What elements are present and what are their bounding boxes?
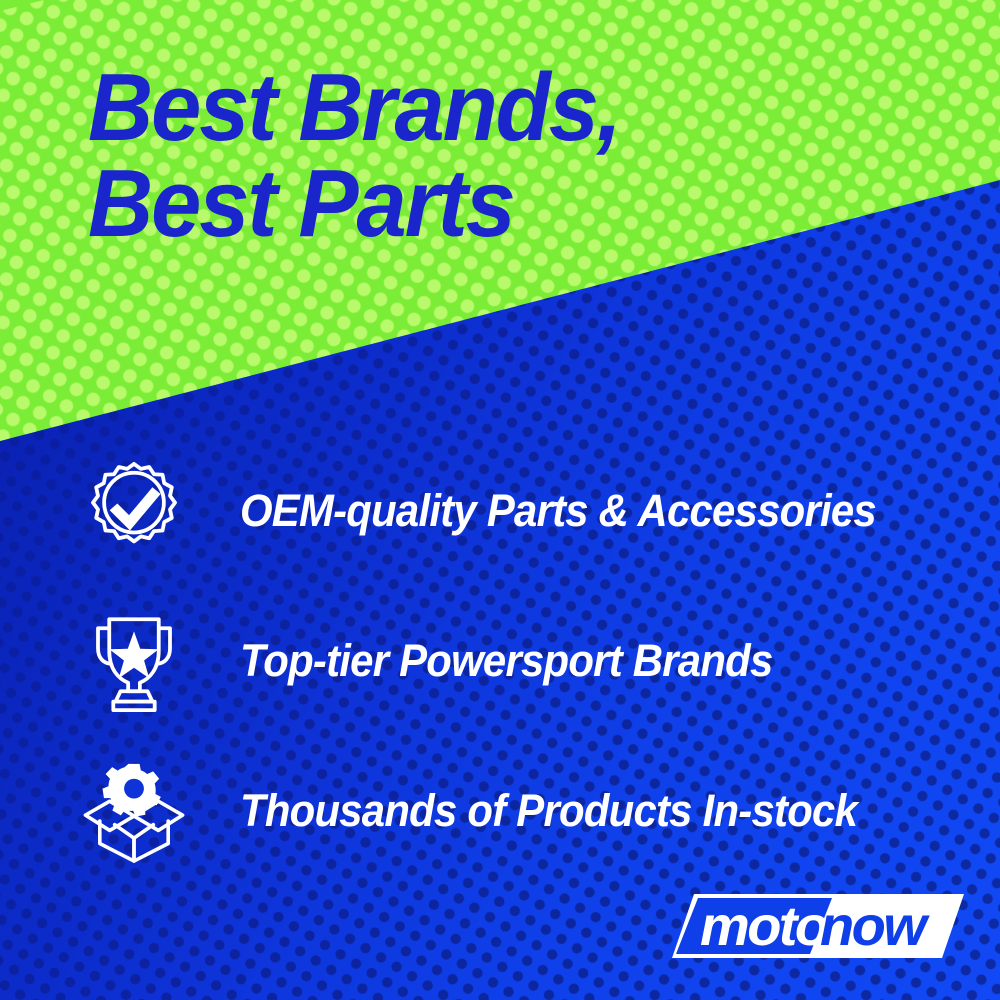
feature-list: OEM-quality Parts & Accessories	[0, 437, 1000, 887]
logo-text-now: now	[820, 894, 930, 957]
feature-row: OEM-quality Parts & Accessories	[0, 437, 1000, 587]
trophy-star-icon	[78, 606, 190, 718]
logo-text-moto: moto	[700, 894, 828, 957]
headline-line-1: Best Brands,	[88, 62, 859, 154]
feature-row: Top-tier Powersport Brands	[0, 587, 1000, 737]
feature-row: Thousands of Products In-stock	[0, 737, 1000, 887]
motonow-logo[interactable]: moto now	[672, 888, 964, 964]
headline: Best Brands, Best Parts	[88, 62, 908, 250]
feature-label: OEM-quality Parts & Accessories	[240, 485, 876, 537]
feature-label: Top-tier Powersport Brands	[240, 635, 773, 687]
headline-line-2: Best Parts	[88, 158, 859, 250]
open-box-gear-icon	[78, 756, 190, 868]
promo-banner: Best Brands, Best Parts OEM-quality Part…	[0, 0, 1000, 1000]
feature-label: Thousands of Products In-stock	[240, 785, 857, 837]
verified-badge-check-icon	[78, 456, 190, 568]
